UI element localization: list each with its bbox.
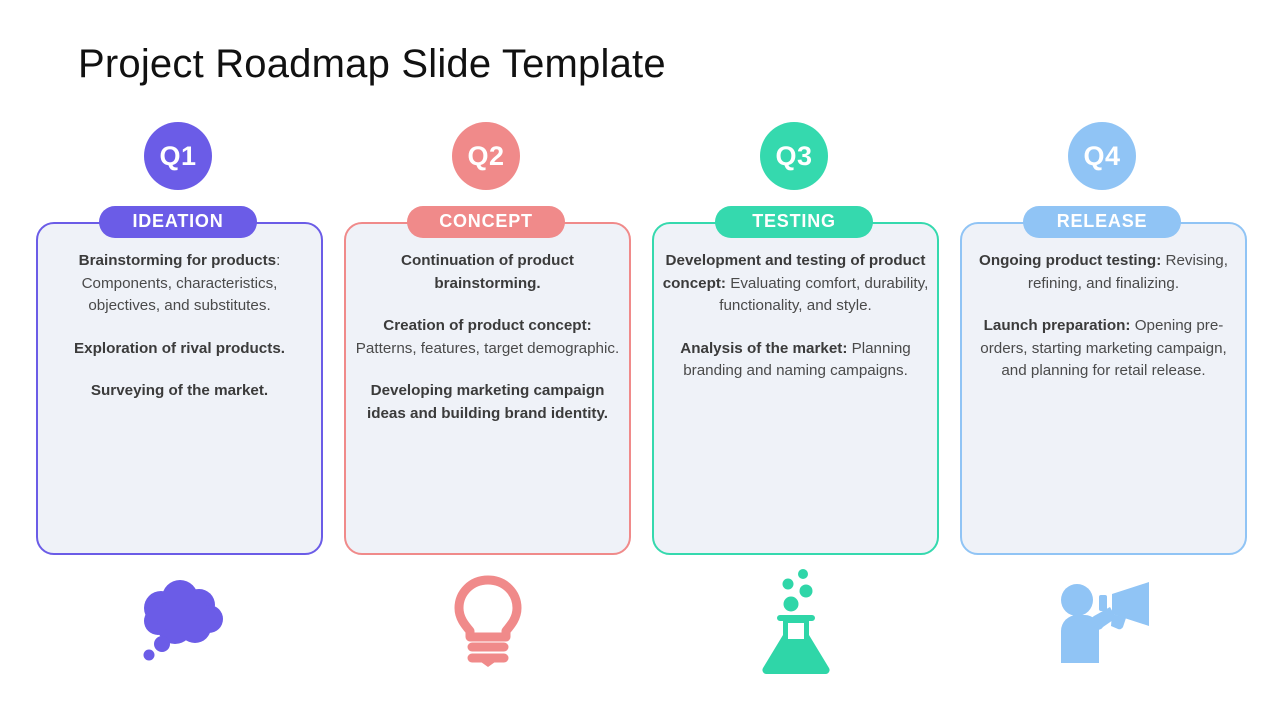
phase-paragraph: Brainstorming for products: Components, …: [46, 250, 313, 318]
phase-pill-label: RELEASE: [1057, 211, 1148, 231]
quarter-badge-label: Q1: [159, 141, 196, 172]
quarter-badge-q2[interactable]: Q2: [452, 122, 520, 190]
phase-pill-label: IDEATION: [132, 211, 223, 231]
phase-icon-wrap-q2: [344, 565, 631, 675]
phase-icon-wrap-q3: [652, 565, 939, 675]
quarter-badge-q4[interactable]: Q4: [1068, 122, 1136, 190]
phase-pill-q3[interactable]: TESTING: [715, 206, 873, 238]
megaphone-person-icon: [1052, 577, 1156, 663]
quarter-badge-q1[interactable]: Q1: [144, 122, 212, 190]
phase-paragraph: Creation of product concept: Patterns, f…: [354, 315, 621, 360]
quarter-badge-label: Q2: [467, 141, 504, 172]
phase-icon-wrap-q4: [960, 565, 1247, 675]
phase-pill-q2[interactable]: CONCEPT: [407, 206, 565, 238]
phase-paragraph: Launch preparation: Opening pre-orders, …: [970, 315, 1237, 383]
paragraph-rest: Evaluating comfort, durability, function…: [719, 275, 928, 315]
paragraph-bold: Surveying of the market.: [91, 382, 268, 399]
roadmap-column-q3[interactable]: Q3 TESTING Development and testing of pr…: [652, 122, 936, 682]
paragraph-bold: Ongoing product testing:: [979, 252, 1161, 269]
roadmap-column-q4[interactable]: Q4 RELEASE Ongoing product testing: Revi…: [960, 122, 1244, 682]
quarter-badge-label: Q3: [775, 141, 812, 172]
paragraph-bold: Analysis of the market:: [680, 340, 847, 357]
paragraph-bold: Developing marketing campaign ideas and …: [367, 382, 608, 422]
roadmap-columns: Q1 IDEATION Brainstorming for products: …: [36, 122, 1244, 682]
paragraph-rest: Patterns, features, target demographic.: [356, 340, 619, 357]
page-title: Project Roadmap Slide Template: [78, 42, 666, 87]
paragraph-bold: Creation of product concept:: [383, 317, 591, 334]
phase-paragraph: Continuation of product brainstorming.: [354, 250, 621, 295]
phase-body-q1: Brainstorming for products: Components, …: [46, 250, 313, 403]
phase-body-q3: Development and testing of product conce…: [662, 250, 929, 383]
lightbulb-icon: [450, 573, 526, 667]
phase-paragraph: Surveying of the market.: [46, 380, 313, 403]
phase-body-q2: Continuation of product brainstorming. C…: [354, 250, 621, 425]
phase-pill-label: TESTING: [752, 211, 836, 231]
phase-pill-label: CONCEPT: [439, 211, 533, 231]
paragraph-bold: Launch preparation:: [984, 317, 1131, 334]
phase-paragraph: Developing marketing campaign ideas and …: [354, 380, 621, 425]
phase-pill-q1[interactable]: IDEATION: [99, 206, 257, 238]
phase-paragraph: Ongoing product testing: Revising, refin…: [970, 250, 1237, 295]
paragraph-bold: Exploration of rival products.: [74, 340, 285, 357]
paragraph-bold: Brainstorming for products: [79, 252, 276, 269]
quarter-badge-label: Q4: [1083, 141, 1120, 172]
roadmap-column-q2[interactable]: Q2 CONCEPT Continuation of product brain…: [344, 122, 628, 682]
phase-body-q4: Ongoing product testing: Revising, refin…: [970, 250, 1237, 383]
phase-paragraph: Exploration of rival products.: [46, 338, 313, 361]
roadmap-column-q1[interactable]: Q1 IDEATION Brainstorming for products: …: [36, 122, 320, 682]
slide-canvas: Project Roadmap Slide Template Q1 IDEATI…: [0, 0, 1280, 720]
paragraph-bold: Continuation of product brainstorming.: [401, 252, 574, 292]
phase-icon-wrap-q1: [36, 565, 323, 675]
phase-paragraph: Development and testing of product conce…: [662, 250, 929, 318]
thought-bubble-icon: [131, 574, 229, 666]
phase-paragraph: Analysis of the market: Planning brandin…: [662, 338, 929, 383]
quarter-badge-q3[interactable]: Q3: [760, 122, 828, 190]
phase-pill-q4[interactable]: RELEASE: [1023, 206, 1181, 238]
flask-icon: [759, 566, 833, 674]
